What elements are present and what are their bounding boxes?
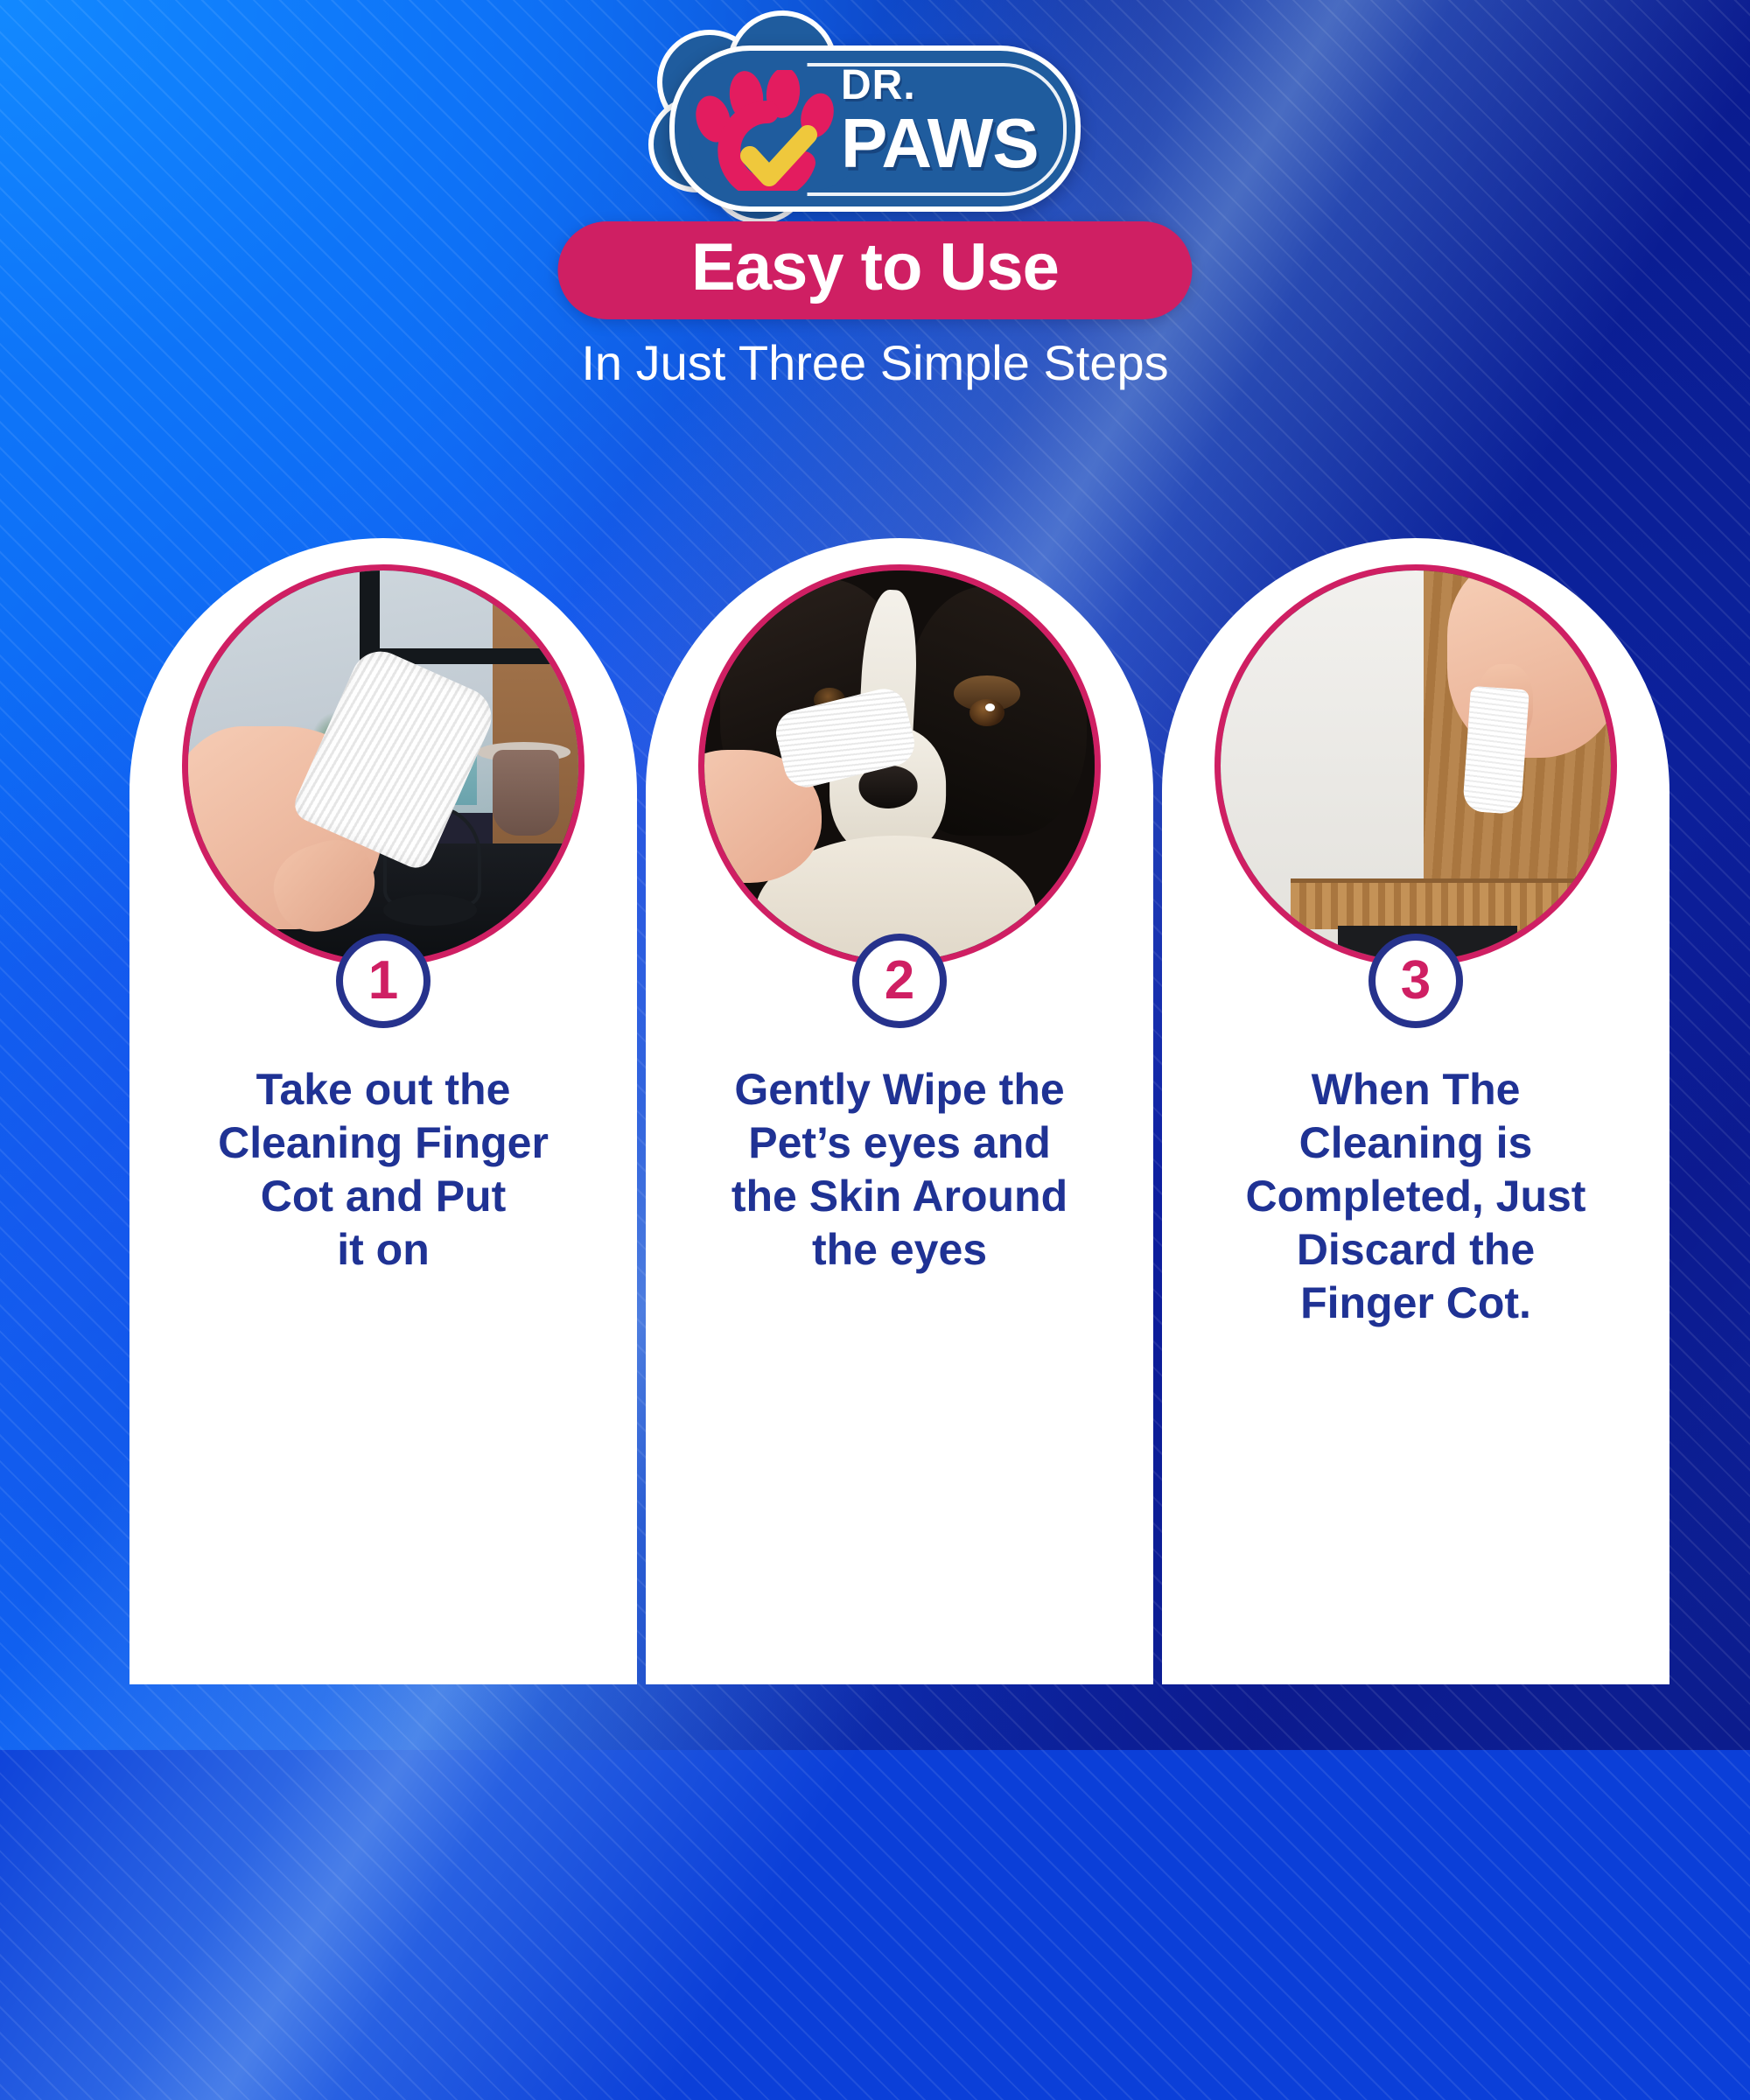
step-number-badge-1: 1	[336, 934, 430, 1028]
step-3-photo-ring	[1214, 564, 1617, 967]
wood-shelf	[1291, 878, 1611, 929]
step-caption-1: Take out the Cleaning Finger Cot and Put…	[154, 1063, 612, 1277]
discarding-finger-cot-photo	[1221, 570, 1611, 961]
paw-print-icon	[692, 70, 839, 191]
logo-paws-text: PAWS	[841, 110, 1070, 177]
brand-logo[interactable]: DR. PAWS	[669, 45, 1081, 212]
wiping-dog-eye-photo	[704, 570, 1095, 961]
page-subtitle: In Just Three Simple Steps	[0, 334, 1750, 391]
vase	[493, 750, 559, 836]
step-card-2[interactable]: 2 Gently Wipe the Pet’s eyes and the Ski…	[646, 538, 1153, 1684]
step-number-badge-3: 3	[1368, 934, 1463, 1028]
step-1-photo-ring	[182, 564, 584, 967]
step-card-1[interactable]: 1 Take out the Cleaning Finger Cot and P…	[129, 538, 637, 1684]
step-number-badge-2: 2	[852, 934, 947, 1028]
logo-wordmark: DR. PAWS	[841, 65, 1070, 196]
step-2-photo-ring	[698, 564, 1101, 967]
chair-seat	[383, 894, 477, 926]
step-caption-2: Gently Wipe the Pet’s eyes and the Skin …	[670, 1063, 1129, 1277]
hand-wearing-finger-cot-photo	[188, 570, 578, 961]
headline-pill: Easy to Use	[558, 221, 1193, 319]
page-title: Easy to Use	[691, 234, 1059, 306]
steps-row: 1 Take out the Cleaning Finger Cot and P…	[0, 538, 1750, 1693]
step-card-3[interactable]: 3 When The Cleaning is Completed, Just D…	[1162, 538, 1669, 1684]
finger-cot	[1462, 686, 1529, 815]
logo-dr-text: DR.	[841, 65, 1070, 107]
step-caption-3: When The Cleaning is Completed, Just Dis…	[1186, 1063, 1645, 1330]
